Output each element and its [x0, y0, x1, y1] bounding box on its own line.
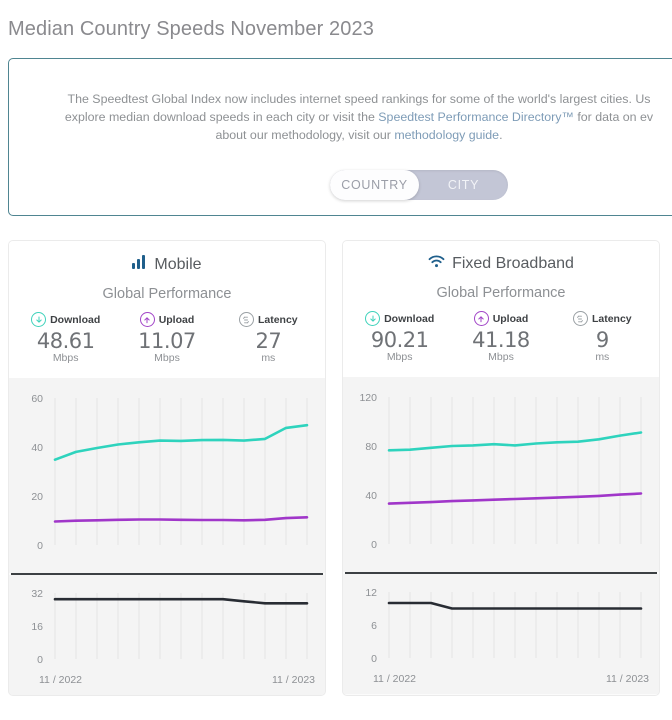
- metric-download-unit: Mbps: [349, 351, 450, 363]
- card-broadband-title: Fixed Broadband: [452, 255, 574, 273]
- toggle-option-country[interactable]: COUNTRY: [330, 170, 419, 200]
- svg-text:20: 20: [31, 491, 43, 503]
- download-icon: [365, 311, 380, 326]
- metric-upload-value: 11.07: [116, 329, 217, 353]
- country-city-toggle[interactable]: COUNTRY CITY: [330, 170, 508, 200]
- metric-latency: Latency 27 ms: [218, 312, 319, 364]
- card-mobile-header: Mobile: [9, 241, 325, 276]
- metric-latency-label: Latency: [258, 314, 298, 326]
- metric-download-label: Download: [384, 313, 434, 325]
- svg-text:12: 12: [365, 587, 377, 599]
- mobile-speed-chart[interactable]: 0204060: [9, 378, 325, 573]
- metric-download: Download 90.21 Mbps: [349, 311, 450, 363]
- notice-line-3-start: about our methodology, visit our: [215, 128, 394, 142]
- metric-download-label-row: Download: [349, 311, 450, 326]
- notice-line-1: The Speedtest Global Index now includes …: [68, 92, 651, 106]
- svg-text:40: 40: [365, 490, 377, 502]
- card-fixed-broadband: Fixed Broadband Global Performance Downl…: [342, 240, 660, 696]
- metric-upload-label-row: Upload: [116, 312, 217, 327]
- svg-text:80: 80: [365, 441, 377, 453]
- metric-latency-value: 27: [218, 329, 319, 353]
- svg-text:16: 16: [31, 621, 43, 633]
- upload-icon: [140, 312, 155, 327]
- cards-container: Mobile Global Performance Download 48.61…: [0, 240, 672, 696]
- card-mobile: Mobile Global Performance Download 48.61…: [8, 240, 326, 696]
- svg-text:6: 6: [371, 620, 377, 632]
- svg-text:11 / 2023: 11 / 2023: [606, 673, 649, 685]
- metric-download-label-row: Download: [15, 312, 116, 327]
- svg-text:32: 32: [31, 588, 43, 600]
- mobile-latency-chart[interactable]: 0163211 / 202211 / 2023: [9, 575, 325, 695]
- metric-latency-label: Latency: [592, 313, 632, 325]
- metric-upload: Upload 41.18 Mbps: [450, 311, 551, 363]
- card-broadband-subtitle: Global Performance: [343, 275, 659, 301]
- upload-icon: [474, 311, 489, 326]
- metric-latency: Latency 9 ms: [552, 311, 653, 363]
- metric-download: Download 48.61 Mbps: [15, 312, 116, 364]
- wifi-icon: [428, 255, 445, 273]
- metric-upload-unit: Mbps: [116, 352, 217, 364]
- svg-text:120: 120: [359, 392, 377, 404]
- metric-upload-label: Upload: [493, 313, 529, 325]
- metric-latency-value: 9: [552, 328, 653, 352]
- svg-text:40: 40: [31, 442, 43, 454]
- svg-text:11 / 2023: 11 / 2023: [272, 674, 315, 686]
- metric-download-value: 48.61: [15, 329, 116, 353]
- broadband-latency-chart[interactable]: 061211 / 202211 / 2023: [343, 574, 659, 694]
- speedtest-global-index-page: Median Country Speeds November 2023 The …: [0, 0, 672, 720]
- notice-line-3-end: .: [499, 128, 502, 142]
- metric-latency-unit: ms: [552, 351, 653, 363]
- metric-latency-label-row: Latency: [552, 311, 653, 326]
- card-broadband-metrics: Download 90.21 Mbps Upload 41.18 Mbps: [343, 301, 659, 377]
- svg-text:0: 0: [371, 653, 377, 665]
- card-mobile-title: Mobile: [154, 256, 201, 274]
- svg-text:0: 0: [37, 540, 43, 552]
- svg-text:0: 0: [37, 654, 43, 666]
- svg-text:11 / 2022: 11 / 2022: [39, 674, 82, 686]
- metric-latency-label-row: Latency: [218, 312, 319, 327]
- notice-text: The Speedtest Global Index now includes …: [9, 91, 672, 144]
- signal-bars-icon: [132, 255, 147, 274]
- metric-upload: Upload 11.07 Mbps: [116, 312, 217, 364]
- speedtest-performance-directory-link[interactable]: Speedtest Performance Directory™: [378, 110, 574, 124]
- metric-upload-label: Upload: [159, 314, 195, 326]
- page-title: Median Country Speeds November 2023: [8, 18, 374, 41]
- metric-latency-unit: ms: [218, 352, 319, 364]
- metric-upload-unit: Mbps: [450, 351, 551, 363]
- svg-text:11 / 2022: 11 / 2022: [373, 673, 416, 685]
- notice-line-2-start: explore median download speeds in each c…: [65, 110, 378, 124]
- latency-icon: [239, 312, 254, 327]
- svg-text:60: 60: [31, 393, 43, 405]
- latency-icon: [573, 311, 588, 326]
- notice-line-2-end: for data on ev: [574, 110, 653, 124]
- metric-upload-value: 41.18: [450, 328, 551, 352]
- metric-download-unit: Mbps: [15, 352, 116, 364]
- card-mobile-subtitle: Global Performance: [9, 276, 325, 302]
- download-icon: [31, 312, 46, 327]
- card-mobile-metrics: Download 48.61 Mbps Upload 11.07 Mbps: [9, 302, 325, 378]
- metric-download-value: 90.21: [349, 328, 450, 352]
- card-broadband-header: Fixed Broadband: [343, 241, 659, 275]
- broadband-speed-chart[interactable]: 04080120: [343, 377, 659, 572]
- methodology-guide-link[interactable]: methodology guide: [394, 128, 499, 142]
- metric-upload-label-row: Upload: [450, 311, 551, 326]
- toggle-option-city[interactable]: CITY: [419, 170, 508, 200]
- metric-download-label: Download: [50, 314, 100, 326]
- svg-text:0: 0: [371, 539, 377, 551]
